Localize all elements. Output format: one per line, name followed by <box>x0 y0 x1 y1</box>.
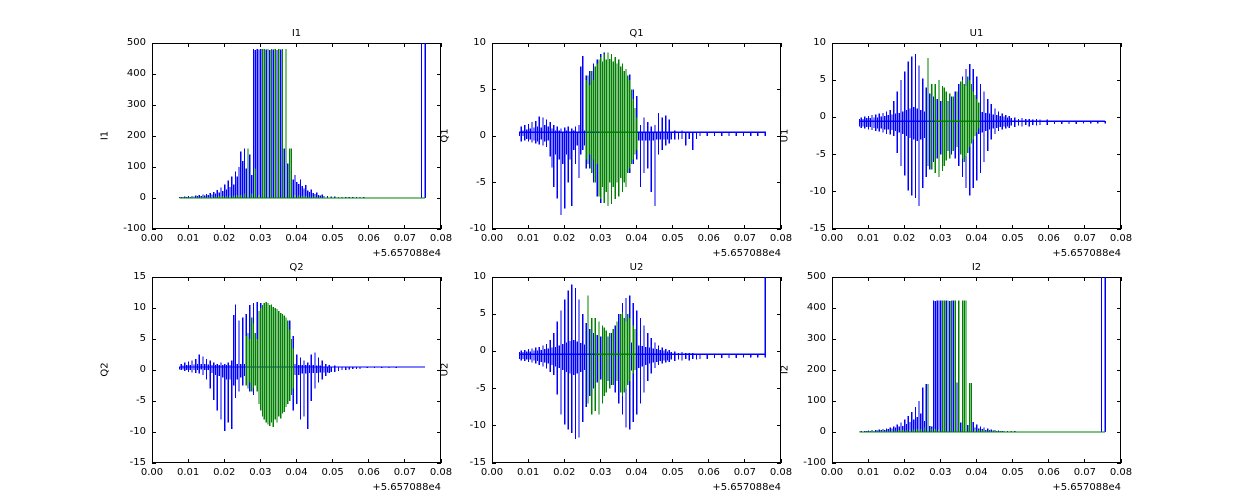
subplot-title: Q1 <box>492 28 781 40</box>
x-tickmark <box>368 459 369 463</box>
y-tickmark <box>832 339 836 340</box>
x-tickmark <box>1121 225 1122 229</box>
y-tick-label: -15 <box>442 458 486 468</box>
y-tick-label: 500 <box>102 38 146 48</box>
series-series_1 <box>519 52 765 215</box>
y-tick-label: -10 <box>442 224 486 234</box>
x-tickmark <box>672 225 673 229</box>
y-tickmark-right <box>1117 339 1121 340</box>
y-tickmark <box>832 463 836 464</box>
x-tickmark-top <box>296 277 297 281</box>
x-tickmark-top <box>332 43 333 47</box>
x-tick-label: 0.08 <box>1099 234 1143 244</box>
x-tickmark <box>600 459 601 463</box>
x-tickmark-top <box>744 43 745 47</box>
x-axis-offset-label: +5.657088e4 <box>691 248 781 259</box>
subplot-u1: -15-10-505100.000.010.020.030.040.050.06… <box>832 43 1121 229</box>
y-tick-label: -15 <box>782 224 826 234</box>
x-tickmark <box>868 225 869 229</box>
y-tickmark <box>832 43 836 44</box>
y-tickmark <box>832 229 836 230</box>
x-axis-offset-label: +5.657088e4 <box>1031 248 1121 259</box>
x-tickmark-top <box>1048 277 1049 281</box>
subplot-title: U2 <box>492 262 781 274</box>
x-tickmark-top <box>976 277 977 281</box>
y-tickmark-right <box>1117 370 1121 371</box>
x-tick-label: 0.08 <box>419 468 463 478</box>
y-tickmark-right <box>1117 154 1121 155</box>
x-tickmark-top <box>1121 277 1122 281</box>
subplot-i2: -10001002003004005000.000.010.020.030.04… <box>832 277 1121 463</box>
y-tick-label: 5 <box>442 309 486 319</box>
x-tickmark <box>940 225 941 229</box>
x-tickmark <box>672 459 673 463</box>
y-tickmark <box>492 277 496 278</box>
x-tickmark-top <box>492 277 493 281</box>
x-tickmark <box>260 225 261 229</box>
x-tickmark-top <box>260 43 261 47</box>
x-tickmark-top <box>600 43 601 47</box>
y-tick-label: 0 <box>782 427 826 437</box>
y-tickmark <box>152 229 156 230</box>
y-tickmark <box>492 425 496 426</box>
x-tickmark-top <box>152 43 153 47</box>
x-tickmark <box>332 225 333 229</box>
x-tickmark <box>404 225 405 229</box>
x-tickmark <box>224 459 225 463</box>
y-tickmark <box>492 314 496 315</box>
x-axis-offset-label: +5.657088e4 <box>351 248 441 259</box>
subplot-title: I2 <box>832 262 1121 274</box>
x-tickmark-top <box>940 43 941 47</box>
x-tickmark-top <box>492 43 493 47</box>
x-tickmark <box>904 225 905 229</box>
x-tickmark <box>832 225 833 229</box>
x-tick-label: 0.08 <box>1099 468 1143 478</box>
x-tickmark-top <box>368 43 369 47</box>
x-tickmark <box>152 459 153 463</box>
x-tickmark <box>492 459 493 463</box>
y-tickmark <box>492 388 496 389</box>
x-tickmark <box>332 459 333 463</box>
x-tickmark <box>708 459 709 463</box>
y-tickmark <box>832 277 836 278</box>
plot-area <box>152 277 441 463</box>
x-tickmark <box>636 225 637 229</box>
figure-canvas: -10001002003004005000.000.010.020.030.04… <box>0 0 1250 500</box>
x-tickmark-top <box>1012 277 1013 281</box>
y-tickmark-right <box>1117 401 1121 402</box>
y-tick-label: -5 <box>442 178 486 188</box>
subplot-title: U1 <box>832 28 1121 40</box>
x-tickmark-top <box>940 277 941 281</box>
subplot-q2: -15-10-50510150.000.010.020.030.040.050.… <box>152 277 441 463</box>
x-tickmark <box>492 225 493 229</box>
y-tickmark <box>152 308 156 309</box>
y-axis-label: I1 <box>100 106 111 166</box>
x-tickmark-top <box>528 43 529 47</box>
y-tickmark <box>152 136 156 137</box>
y-axis-label: Q1 <box>440 106 451 166</box>
x-tickmark-top <box>1048 43 1049 47</box>
series-series_2 <box>859 300 1105 432</box>
x-tickmark-top <box>260 277 261 281</box>
y-tickmark <box>832 154 836 155</box>
y-tick-label: 10 <box>102 303 146 313</box>
y-tick-label: 400 <box>782 303 826 313</box>
x-tickmark-top <box>904 277 905 281</box>
x-tickmark <box>188 225 189 229</box>
x-tickmark <box>600 225 601 229</box>
y-tick-label: 10 <box>442 38 486 48</box>
x-tickmark-top <box>224 277 225 281</box>
plot-area <box>832 43 1121 229</box>
y-tickmark-right <box>1117 308 1121 309</box>
x-tickmark <box>976 225 977 229</box>
x-tickmark <box>188 459 189 463</box>
series-series_1 <box>859 54 1105 206</box>
x-tickmark-top <box>224 43 225 47</box>
x-tickmark <box>528 225 529 229</box>
y-tickmark-right <box>437 308 441 309</box>
y-tick-label: -10 <box>102 427 146 437</box>
x-tickmark <box>224 225 225 229</box>
x-axis-offset-label: +5.657088e4 <box>351 482 441 493</box>
x-tickmark-top <box>636 277 637 281</box>
x-tickmark-top <box>188 277 189 281</box>
x-tickmark <box>296 225 297 229</box>
x-tickmark <box>528 459 529 463</box>
x-tickmark <box>564 225 565 229</box>
x-tickmark <box>1084 225 1085 229</box>
x-tickmark-top <box>976 43 977 47</box>
x-tickmark-top <box>672 43 673 47</box>
x-tickmark-top <box>832 43 833 47</box>
y-tick-label: 15 <box>102 272 146 282</box>
x-tickmark <box>1048 225 1049 229</box>
y-tick-label: -10 <box>782 187 826 197</box>
y-axis-label: Q2 <box>100 340 111 400</box>
series-series_1 <box>179 43 425 198</box>
y-tickmark <box>492 136 496 137</box>
y-tickmark-right <box>1117 80 1121 81</box>
y-tickmark <box>832 370 836 371</box>
subplot-i1: -10001002003004005000.000.010.020.030.04… <box>152 43 441 229</box>
y-tick-label: 5 <box>442 85 486 95</box>
y-tick-label: -10 <box>442 421 486 431</box>
y-tickmark-right <box>1117 117 1121 118</box>
series-series_2 <box>928 58 979 177</box>
y-tickmark <box>492 89 496 90</box>
y-tickmark <box>492 351 496 352</box>
y-tickmark <box>152 198 156 199</box>
x-tickmark <box>260 459 261 463</box>
x-tickmark <box>976 459 977 463</box>
plot-area <box>832 277 1121 463</box>
y-tickmark <box>832 308 836 309</box>
series-series_1 <box>179 277 425 431</box>
x-tickmark-top <box>152 277 153 281</box>
x-tickmark <box>1012 225 1013 229</box>
x-tickmark-top <box>744 277 745 281</box>
x-tick-label: 0.08 <box>419 234 463 244</box>
plot-area <box>152 43 441 229</box>
y-tickmark <box>152 463 156 464</box>
x-tickmark <box>940 459 941 463</box>
y-tickmark <box>492 182 496 183</box>
x-tickmark-top <box>1121 43 1122 47</box>
x-tickmark-top <box>672 277 673 281</box>
y-tickmark <box>492 229 496 230</box>
x-tickmark <box>296 459 297 463</box>
y-tick-label: -100 <box>102 224 146 234</box>
x-tickmark <box>904 459 905 463</box>
x-tickmark-top <box>296 43 297 47</box>
plot-area <box>492 277 781 463</box>
x-tickmark <box>1048 459 1049 463</box>
y-tick-label: 10 <box>782 38 826 48</box>
x-tickmark-top <box>832 277 833 281</box>
x-tickmark-top <box>904 43 905 47</box>
y-tick-label: 500 <box>782 272 826 282</box>
x-tickmark <box>368 225 369 229</box>
x-tickmark-top <box>404 277 405 281</box>
x-tickmark <box>1012 459 1013 463</box>
y-tickmark <box>152 167 156 168</box>
subplot-u2: -15-10-505100.000.010.020.030.040.050.06… <box>492 277 781 463</box>
y-tickmark-right <box>1117 432 1121 433</box>
y-tickmark-right <box>777 89 781 90</box>
x-tickmark-top <box>1084 277 1085 281</box>
y-tickmark-right <box>437 74 441 75</box>
x-tickmark-top <box>564 43 565 47</box>
y-tick-label: 5 <box>782 75 826 85</box>
x-tickmark <box>744 459 745 463</box>
x-tickmark-top <box>600 277 601 281</box>
x-tickmark-top <box>404 43 405 47</box>
series-series_2 <box>179 49 425 198</box>
x-tickmark-top <box>708 277 709 281</box>
y-tickmark-right <box>777 425 781 426</box>
y-tickmark-right <box>437 198 441 199</box>
x-tick-label: 0.08 <box>759 468 803 478</box>
y-axis-label: I2 <box>780 340 791 400</box>
y-tick-label: -15 <box>102 458 146 468</box>
y-axis-label: U2 <box>440 340 451 400</box>
y-tickmark-right <box>777 182 781 183</box>
y-tickmark <box>492 463 496 464</box>
x-tickmark-top <box>528 277 529 281</box>
x-tickmark-top <box>188 43 189 47</box>
y-tickmark <box>152 370 156 371</box>
y-tickmark <box>152 432 156 433</box>
y-tickmark <box>152 74 156 75</box>
x-tickmark <box>708 225 709 229</box>
x-tickmark <box>744 225 745 229</box>
x-tickmark <box>832 459 833 463</box>
x-axis-offset-label: +5.657088e4 <box>691 482 781 493</box>
x-tickmark-top <box>1012 43 1013 47</box>
y-tickmark <box>152 339 156 340</box>
y-tick-label: -100 <box>782 458 826 468</box>
x-tickmark-top <box>868 43 869 47</box>
subplot-title: Q2 <box>152 262 441 274</box>
x-tickmark <box>404 459 405 463</box>
y-tickmark-right <box>437 401 441 402</box>
y-tickmark <box>152 401 156 402</box>
x-tickmark-top <box>1084 43 1085 47</box>
x-tickmark <box>636 459 637 463</box>
y-tickmark <box>152 105 156 106</box>
x-tickmark <box>152 225 153 229</box>
x-tickmark <box>868 459 869 463</box>
y-tickmark <box>832 432 836 433</box>
x-tickmark <box>564 459 565 463</box>
x-tickmark-top <box>868 277 869 281</box>
y-tickmark <box>832 401 836 402</box>
y-tickmark <box>152 277 156 278</box>
subplot-q1: -10-505100.000.010.020.030.040.050.060.0… <box>492 43 781 229</box>
y-tick-label: 400 <box>102 69 146 79</box>
y-tickmark <box>832 191 836 192</box>
y-tickmark-right <box>777 314 781 315</box>
x-tick-label: 0.08 <box>759 234 803 244</box>
y-tick-label: 10 <box>442 272 486 282</box>
x-tickmark <box>1084 459 1085 463</box>
x-tickmark-top <box>368 277 369 281</box>
x-axis-offset-label: +5.657088e4 <box>1031 482 1121 493</box>
series-series_1 <box>519 277 765 439</box>
x-tickmark-top <box>636 43 637 47</box>
x-tickmark <box>1121 459 1122 463</box>
x-tickmark-top <box>708 43 709 47</box>
y-axis-label: U1 <box>780 106 791 166</box>
series-series_1 <box>859 277 1105 432</box>
y-tick-label: 0 <box>102 193 146 203</box>
y-tickmark <box>492 43 496 44</box>
y-tickmark-right <box>1117 191 1121 192</box>
x-tickmark-top <box>332 277 333 281</box>
plot-area <box>492 43 781 229</box>
y-tickmark <box>832 80 836 81</box>
y-tickmark <box>152 43 156 44</box>
subplot-title: I1 <box>152 28 441 40</box>
y-tickmark-right <box>437 167 441 168</box>
x-tickmark-top <box>564 277 565 281</box>
y-tickmark-right <box>437 432 441 433</box>
y-tickmark <box>832 117 836 118</box>
